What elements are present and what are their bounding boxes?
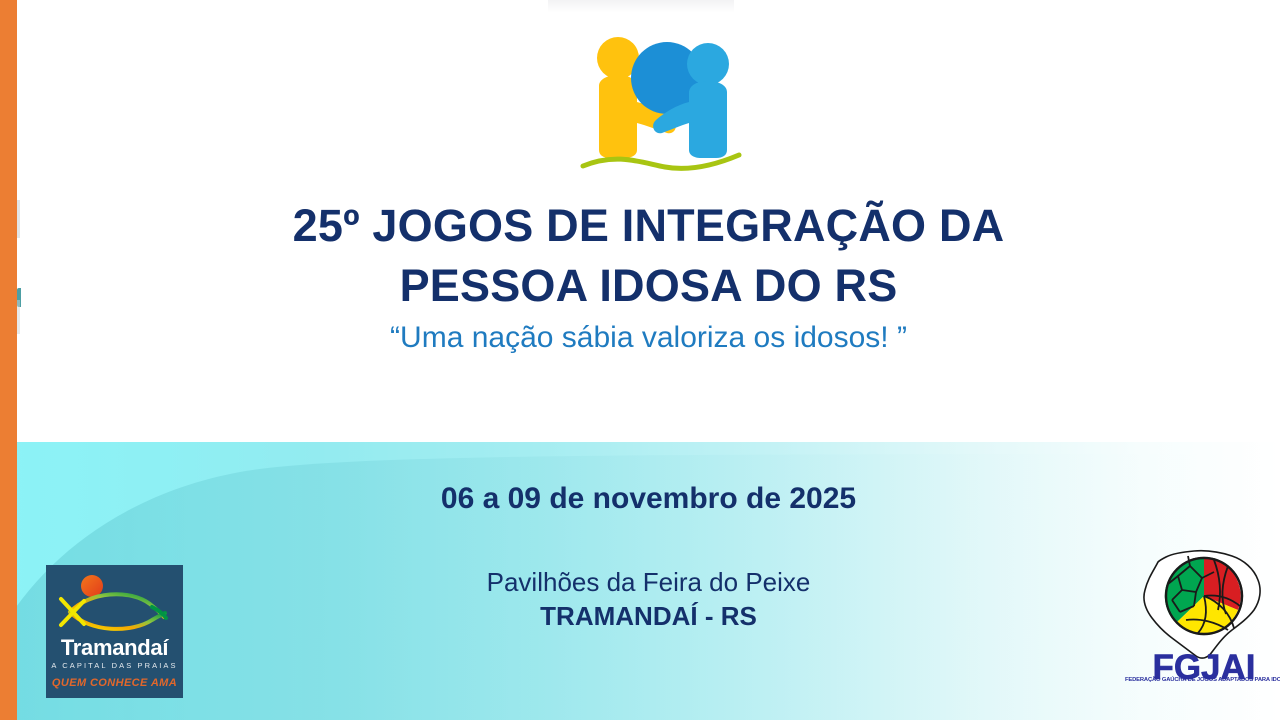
left-accent-bar	[0, 0, 17, 720]
edge-artifact-upper	[17, 200, 20, 238]
event-venue: Pavilhões da Feira do Peixe	[17, 566, 1280, 600]
fgjai-tagline: FEDERAÇÃO GAÚCHA DE JOGOS ADAPTADOS PARA…	[1125, 678, 1280, 684]
title-line-2: PESSOA IDOSA DO RS	[400, 260, 898, 311]
tramandai-tagline: A CAPITAL DAS PRAIAS	[46, 662, 183, 670]
page-title: 25º JOGOS DE INTEGRAÇÃO DA PESSOA IDOSA …	[17, 196, 1280, 316]
tramandai-logo: Tramandaí A CAPITAL DAS PRAIAS QUEM CONH…	[46, 565, 183, 698]
event-slogan: “Uma nação sábia valoriza os idosos! ”	[17, 320, 1280, 356]
tramandai-slogan: QUEM CONHECE AMA	[46, 678, 183, 689]
edge-artifact-lower	[17, 300, 20, 334]
presentation-slide: 25º JOGOS DE INTEGRAÇÃO DA PESSOA IDOSA …	[0, 0, 1280, 720]
tramandai-fish-icon	[56, 571, 173, 637]
title-block: 25º JOGOS DE INTEGRAÇÃO DA PESSOA IDOSA …	[17, 196, 1280, 356]
tramandai-name: Tramandaí	[46, 637, 183, 659]
event-emblem-icon	[577, 24, 747, 172]
event-venue-block: Pavilhões da Feira do Peixe TRAMANDAÍ - …	[17, 566, 1280, 634]
event-city: TRAMANDAÍ - RS	[17, 600, 1280, 634]
fgjai-emblem-icon	[1128, 538, 1280, 660]
event-date: 06 a 09 de novembro de 2025	[17, 481, 1280, 517]
top-edge-smudge	[548, 0, 734, 13]
title-line-1: 25º JOGOS DE INTEGRAÇÃO DA	[293, 200, 1005, 251]
fgjai-logo: FGJAI FEDERAÇÃO GAÚCHA DE JOGOS ADAPTADO…	[1128, 538, 1280, 698]
